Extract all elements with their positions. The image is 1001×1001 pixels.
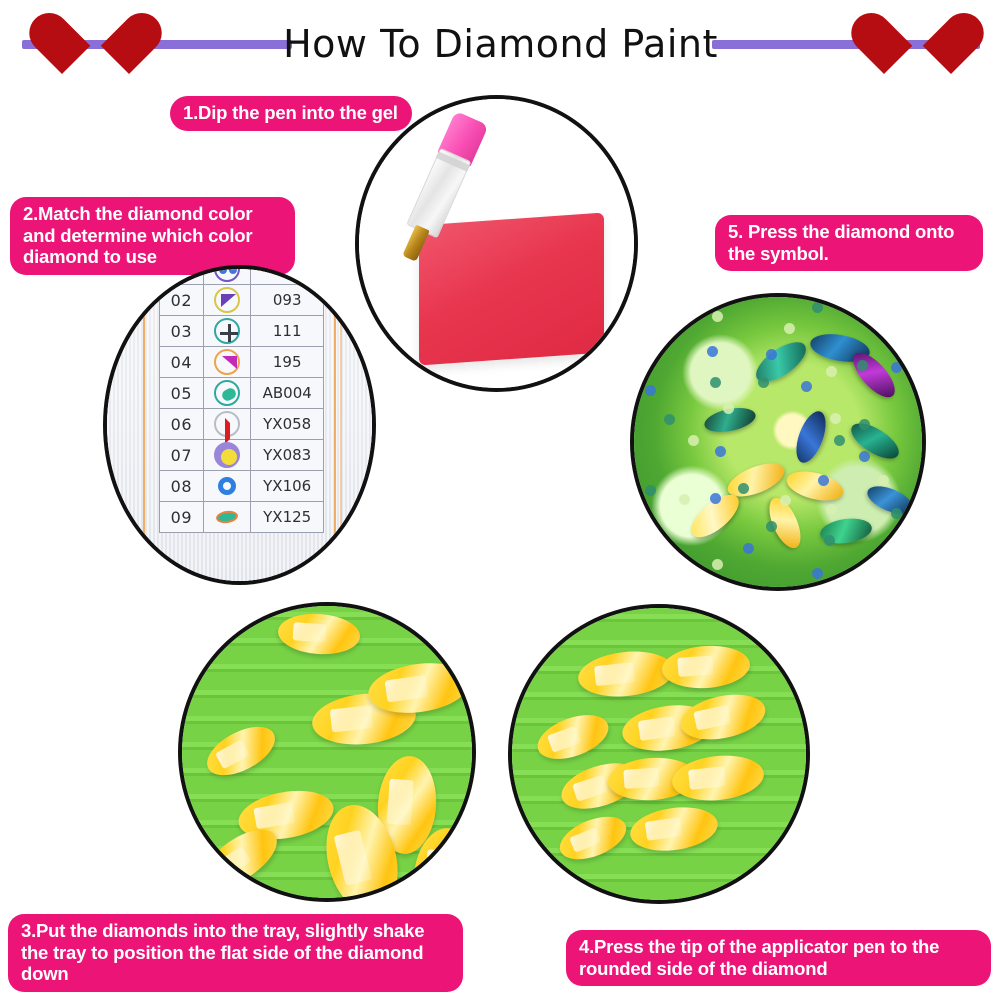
mandala-gems <box>634 297 922 587</box>
mandala-gem <box>790 408 831 467</box>
table-row: 05AB004 <box>160 378 324 409</box>
photo-diamonds-in-tray <box>178 602 476 902</box>
photo-pen-dipping-into-gel <box>355 95 638 392</box>
mandala-drill <box>878 475 889 486</box>
mandala-drill <box>784 323 795 334</box>
mandala-gem <box>864 481 917 519</box>
mandala-drill <box>715 446 726 457</box>
chart-cell-no: 02 <box>160 285 204 316</box>
tray-gem <box>554 808 632 868</box>
chart-cell-symbol <box>203 285 251 316</box>
mandala-drill <box>891 362 902 373</box>
chart-cell-no: 03 <box>160 316 204 347</box>
tray-gem <box>277 611 362 657</box>
chart-cell-code: 195 <box>251 347 324 378</box>
chart-cell-symbol <box>203 316 251 347</box>
chart-cell-no: 08 <box>160 471 204 502</box>
mandala-drill <box>834 435 845 446</box>
chart-cell-code: YX058 <box>251 409 324 440</box>
tray-gem <box>576 647 676 701</box>
mandala-gem <box>846 417 905 466</box>
table-row: 02093 <box>160 285 324 316</box>
mandala-drill <box>891 508 902 519</box>
mandala-drill <box>710 377 721 388</box>
mandala-drill <box>857 360 868 371</box>
chart-cell-symbol <box>203 502 251 533</box>
chart-cell-symbol <box>203 409 251 440</box>
chart-cell-code: AB004 <box>251 378 324 409</box>
chart-cell-no: 09 <box>160 502 204 533</box>
chart-cell-code: YX125 <box>251 502 324 533</box>
chart-guide-line-right-2 <box>340 269 342 581</box>
chart-cell-code: 093 <box>251 285 324 316</box>
mandala-drill <box>712 559 723 570</box>
mandala-gem <box>846 346 901 404</box>
mandala-drill <box>801 381 812 392</box>
mandala-drill <box>826 504 837 515</box>
tray-gem <box>199 717 282 785</box>
table-row: 03111 <box>160 316 324 347</box>
chart-cell-no: 04 <box>160 347 204 378</box>
mandala-drill <box>830 413 841 424</box>
tray-gems <box>182 606 472 898</box>
chart-cell-code: YX106 <box>251 471 324 502</box>
table-row: 06YX058 <box>160 409 324 440</box>
table-row: 04195 <box>160 347 324 378</box>
tray-gem <box>661 643 752 691</box>
chart-cell-symbol <box>203 378 251 409</box>
chart-guide-line-left <box>143 269 145 581</box>
table-row: 09YX125 <box>160 502 324 533</box>
mandala-drill <box>859 419 870 430</box>
mandala-drill <box>758 377 769 388</box>
mandala-drill <box>679 494 690 505</box>
mandala-drill <box>738 483 749 494</box>
page-title: How To Diamond Paint <box>0 22 1001 66</box>
chart-cell-no: 05 <box>160 378 204 409</box>
tray-gem <box>670 751 766 804</box>
gel-pad <box>419 213 604 366</box>
step-label-3: 3.Put the diamonds into the tray, slight… <box>8 914 463 992</box>
step-label-4: 4.Press the tip of the applicator pen to… <box>566 930 991 986</box>
photo-applicator-pen-on-diamond <box>508 604 810 904</box>
chart-cell-symbol <box>203 440 251 471</box>
chart-cell-code: YX083 <box>251 440 324 471</box>
mandala-drill <box>859 451 870 462</box>
chart-cell-symbol <box>203 471 251 502</box>
step-label-5: 5. Press the diamond onto the symbol. <box>715 215 983 271</box>
chart-guide-line-right <box>334 269 336 581</box>
mandala-drill <box>645 385 656 396</box>
mandala-drill <box>812 568 823 579</box>
photo-pressing-diamond-onto-symbol <box>630 293 926 591</box>
table-row: 07YX083 <box>160 440 324 471</box>
mandala-gem <box>784 466 847 505</box>
mandala-drill <box>688 435 699 446</box>
chart-cell-symbol <box>203 265 251 285</box>
mandala-drill <box>766 521 777 532</box>
mandala-drill <box>826 366 837 377</box>
chart-cell-no: 07 <box>160 440 204 471</box>
tray-gem <box>532 706 615 767</box>
mandala-drill <box>707 346 718 357</box>
mandala-drill <box>664 414 675 425</box>
mandala-drill <box>743 543 754 554</box>
color-chart-table: 0102002093031110419505AB00406YX05807YX08… <box>159 265 324 533</box>
mandala-drill <box>712 311 723 322</box>
mandala-drill <box>780 495 791 506</box>
page-header: How To Diamond Paint <box>0 0 1001 80</box>
chart-cell-symbol <box>203 347 251 378</box>
mandala-drill <box>812 302 823 313</box>
mandala-drill <box>645 485 656 496</box>
chart-cell-code: 111 <box>251 316 324 347</box>
step-label-2: 2.Match the diamond color and determine … <box>10 197 295 275</box>
tray-gem <box>628 802 721 856</box>
chart-cell-no: 06 <box>160 409 204 440</box>
applicator-tray-gems <box>512 608 806 900</box>
mandala-drill <box>824 535 835 546</box>
table-row: 08YX106 <box>160 471 324 502</box>
photo-diamond-color-chart: 0102002093031110419505AB00406YX05807YX08… <box>103 265 376 585</box>
